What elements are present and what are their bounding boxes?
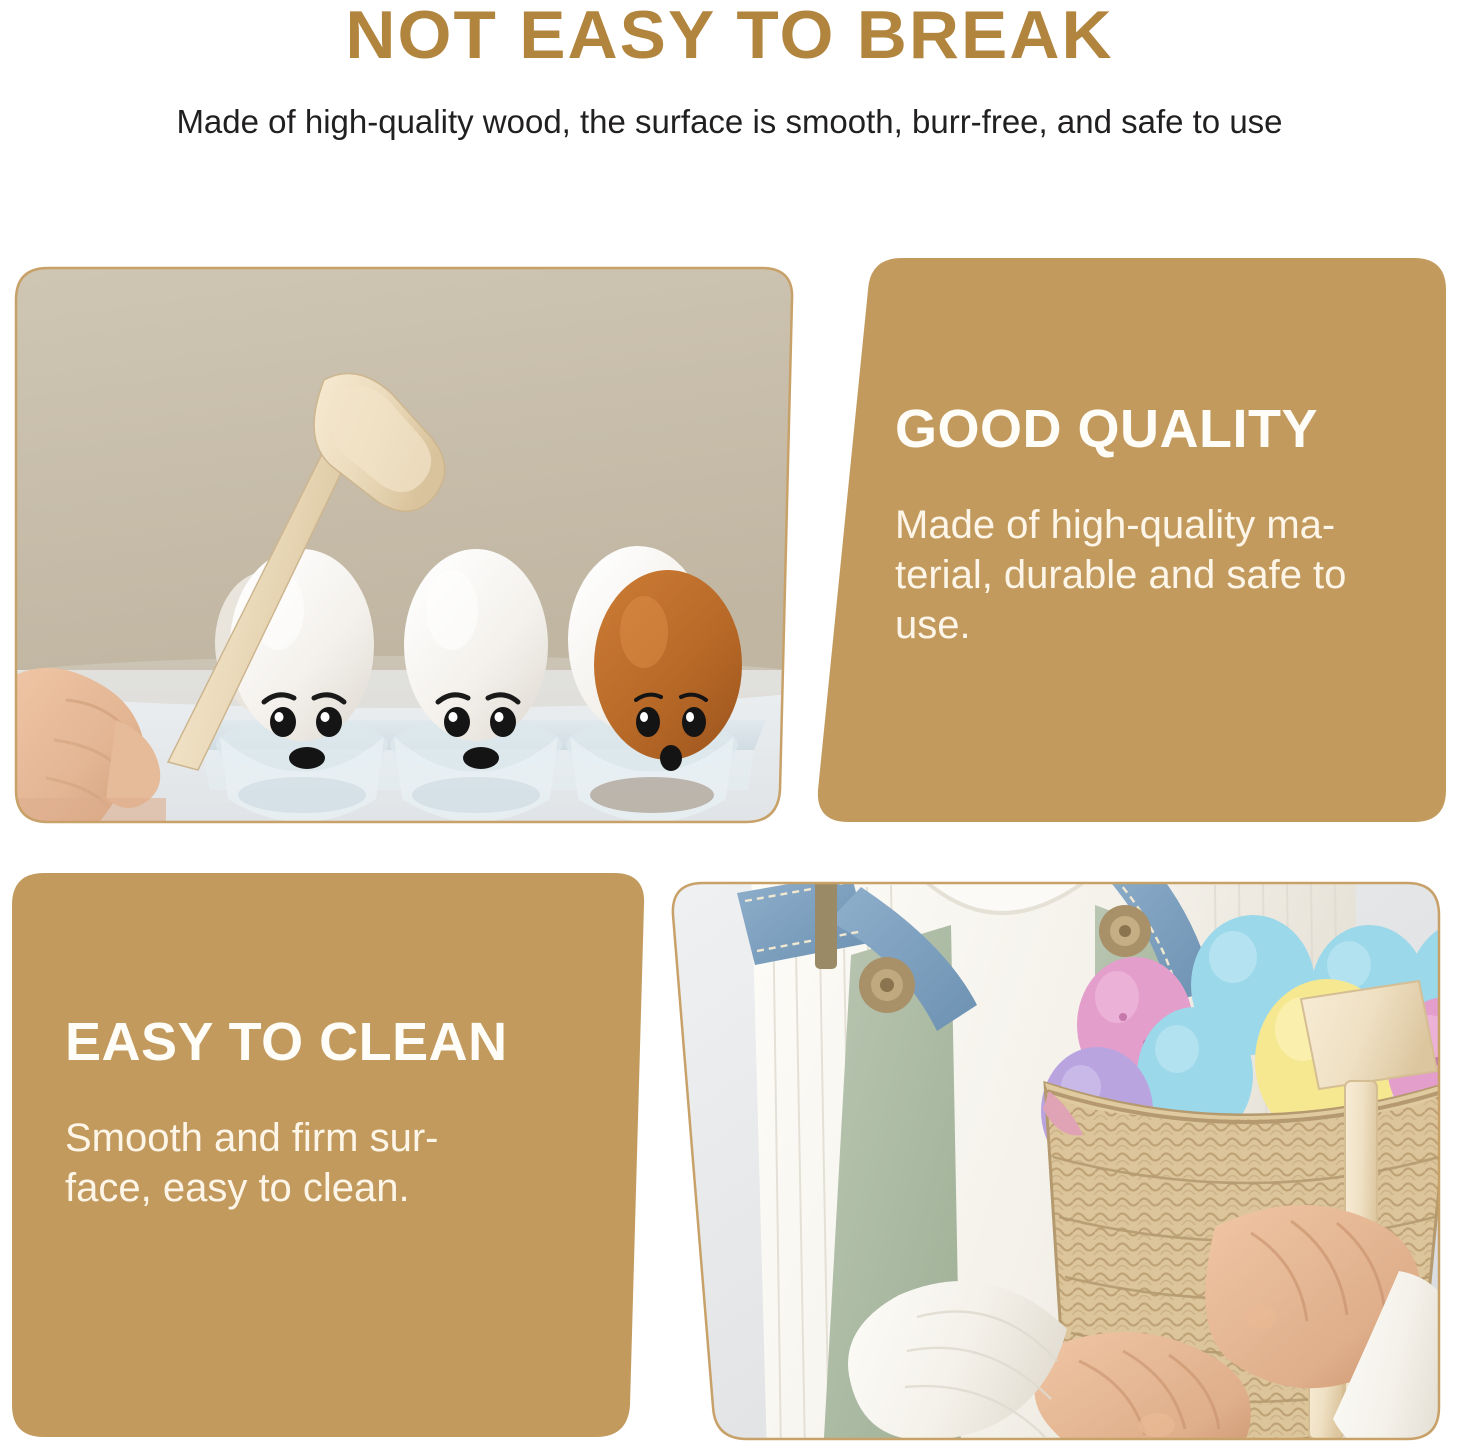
easy-to-clean-body-line-2: face, easy to clean. [65, 1166, 410, 1210]
good-quality-panel: GOOD QUALITY Made of high-quality ma-ter… [800, 250, 1459, 835]
easy-to-clean-body-line-1: Smooth and firm sur- [65, 1116, 438, 1160]
page-subtitle: Made of high-quality wood, the surface i… [120, 100, 1339, 144]
header: NOT EASY TO BREAK Made of high-quality w… [0, 0, 1459, 200]
easy-to-clean-panel: EASY TO CLEAN Smooth and firm sur-face, … [0, 865, 660, 1450]
good-quality-body-line-1: Made of high-quality ma- [895, 503, 1335, 547]
easy-to-clean-heading: EASY TO CLEAN [65, 1013, 508, 1071]
good-quality-heading: GOOD QUALITY [895, 400, 1318, 458]
good-quality-body: Made of high-quality ma-terial, durable … [895, 500, 1395, 650]
good-quality-body-line-2: terial, durable and safe to [895, 553, 1346, 597]
good-quality-body-line-3: use. [895, 603, 971, 647]
photo-eggs-and-mallet [6, 250, 806, 835]
photo-child-with-egg-basket [655, 865, 1459, 1455]
page-title: NOT EASY TO BREAK [0, 0, 1459, 72]
easy-to-clean-body: Smooth and firm sur-face, easy to clean. [65, 1113, 515, 1213]
